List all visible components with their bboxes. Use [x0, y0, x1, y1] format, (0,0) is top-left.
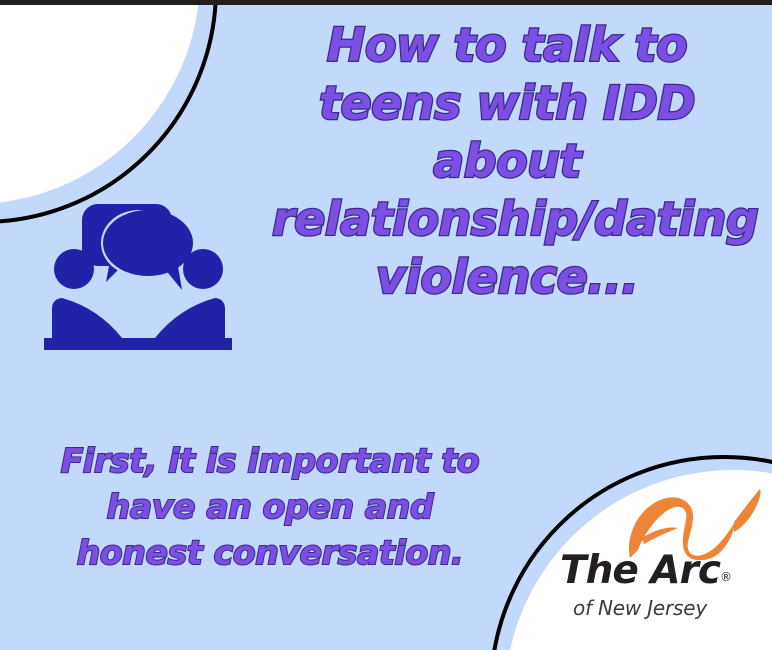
- page-title: How to talk to teens with IDD about rela…: [272, 16, 742, 306]
- subcopy-line-2: have an open and: [60, 484, 480, 530]
- headline-line-4: relationship/dating: [272, 190, 742, 248]
- headline-line-2: teens with IDD: [272, 74, 742, 132]
- arc-tagline: of New Jersey: [573, 596, 707, 620]
- the-arc-of-new-jersey-logo: The Arc® of New Jersey: [560, 488, 772, 640]
- two-people-conversation-icon: [38, 196, 238, 354]
- registered-trademark-icon: ®: [720, 570, 732, 584]
- arc-wordmark: The Arc®: [560, 550, 720, 598]
- subcopy-line-3: honest conversation.: [60, 530, 480, 576]
- subcopy-line-1: First, it is important to: [60, 438, 480, 484]
- body-text: First, it is important to have an open a…: [60, 438, 480, 576]
- arc-wordmark-text: The Arc: [560, 548, 720, 593]
- headline-line-3: about: [272, 132, 742, 190]
- headline-line-5: violence...: [272, 248, 742, 306]
- slide-canvas: How to talk to teens with IDD about rela…: [0, 0, 772, 650]
- headline-line-1: How to talk to: [272, 16, 742, 74]
- top-edge-bar: [0, 0, 772, 5]
